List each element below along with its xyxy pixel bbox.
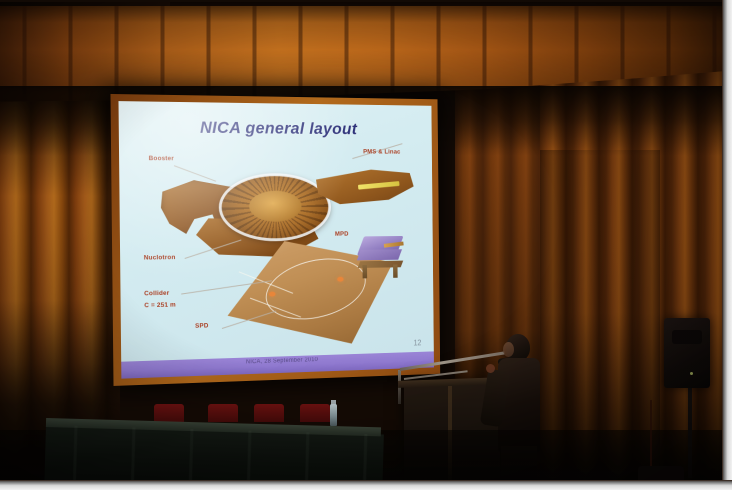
mpd-barrel: [357, 249, 402, 260]
red-chair-2: [208, 404, 238, 422]
mpd-support-leg-right: [393, 264, 398, 277]
conference-photo: NICA general layout: [0, 0, 732, 490]
loudspeaker-stand-pole: [688, 386, 692, 478]
slide-page-number: 12: [413, 339, 421, 348]
red-chair-3: [254, 404, 284, 422]
pa-loudspeaker: [664, 318, 710, 388]
nuclotron-label: Nuclotron: [144, 254, 176, 261]
pms-linac-label: PMS & Linac: [363, 149, 400, 156]
photo-frame-top: [0, 0, 732, 2]
water-bottle: [330, 404, 337, 426]
loudspeaker-driver-grille: [672, 330, 702, 344]
projection-screen: NICA general layout: [110, 94, 440, 386]
mpd-support-leg-left: [363, 265, 368, 278]
photo-frame-right: [722, 0, 732, 490]
spd-label: SPD: [195, 322, 208, 329]
red-chair-4: [300, 404, 330, 422]
presenter-face: [503, 342, 514, 357]
collider-circumference-label: C = 251 m: [144, 302, 176, 310]
booster-leader-line: [174, 165, 216, 181]
photo-frame-bottom: [0, 480, 732, 490]
presentation-slide: NICA general layout: [118, 101, 433, 379]
mpd-detector: [353, 226, 409, 274]
collider-label: Collider: [144, 290, 169, 297]
loudspeaker-power-led: [690, 372, 693, 375]
screen-frame: NICA general layout: [110, 94, 440, 386]
booster-label: Booster: [149, 155, 174, 162]
mpd-label: MPD: [335, 231, 349, 238]
presenter-hand: [486, 364, 495, 373]
red-chair-1: [154, 404, 184, 422]
nica-layout-diagram: Booster Nuclotron Collider C = 251 m SPD…: [119, 135, 434, 360]
water-bottle-cap: [331, 400, 336, 405]
nuclotron-ring-centre: [249, 191, 302, 222]
